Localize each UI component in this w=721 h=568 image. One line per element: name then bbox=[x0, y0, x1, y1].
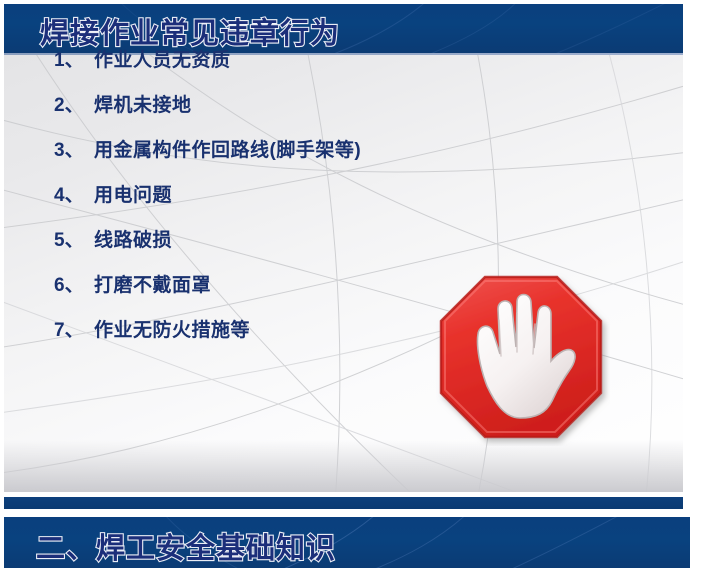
list-item: 2、 焊机未接地 bbox=[54, 90, 484, 135]
page-edge-top bbox=[0, 0, 721, 4]
list-item: 6、 打磨不戴面罩 bbox=[54, 270, 484, 315]
list-item: 4、 用电问题 bbox=[54, 180, 484, 225]
list-item-number: 4、 bbox=[54, 180, 94, 207]
list-item-label: 用金属构件作回路线(脚手架等) bbox=[94, 135, 361, 162]
list-item: 7、 作业无防火措施等 bbox=[54, 315, 484, 360]
list-item-number: 2、 bbox=[54, 90, 94, 117]
section-separator-bar bbox=[4, 497, 683, 509]
list-item-number: 6、 bbox=[54, 270, 94, 297]
list-item-label: 用电问题 bbox=[94, 180, 172, 207]
violation-list: 1、 作业人员无资质 2、 焊机未接地 3、 用金属构件作回路线(脚手架等) 4… bbox=[54, 45, 484, 360]
stop-hand-sign-icon bbox=[432, 268, 610, 446]
presentation-slide: 焊接作业常见违章行为 1、 bbox=[0, 0, 721, 568]
section-gap bbox=[0, 509, 721, 517]
list-item-label: 打磨不戴面罩 bbox=[94, 270, 211, 297]
list-item: 1、 作业人员无资质 bbox=[54, 45, 484, 90]
list-item: 5、 线路破损 bbox=[54, 225, 484, 270]
list-item-label: 作业无防火措施等 bbox=[94, 315, 250, 342]
list-item-label: 线路破损 bbox=[94, 225, 172, 252]
list-item-number: 5、 bbox=[54, 225, 94, 252]
list-item-label: 作业人员无资质 bbox=[94, 45, 231, 72]
page-edge-left bbox=[0, 0, 4, 568]
list-item-number: 1、 bbox=[54, 45, 94, 72]
list-item-number: 3、 bbox=[54, 135, 94, 162]
list-item-label: 焊机未接地 bbox=[94, 90, 192, 117]
panel-bottom-shading bbox=[4, 440, 683, 492]
section-title: 二、焊工安全基础知识 bbox=[36, 525, 336, 567]
list-item: 3、 用金属构件作回路线(脚手架等) bbox=[54, 135, 484, 180]
list-item-number: 7、 bbox=[54, 315, 94, 342]
page-edge-right bbox=[690, 0, 721, 568]
